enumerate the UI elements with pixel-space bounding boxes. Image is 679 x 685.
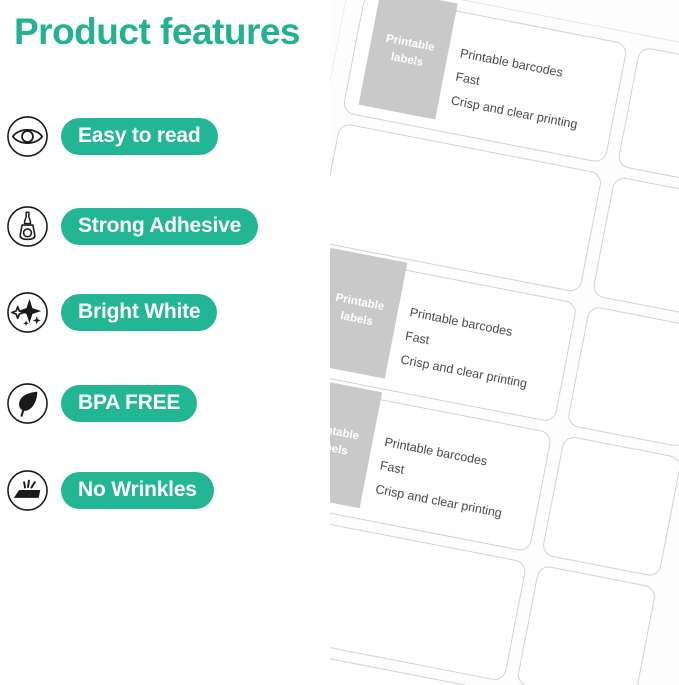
feature-item-no-wrinkles: No Wrinkles [6, 468, 214, 512]
feature-item-easy-to-read: Easy to read [6, 114, 218, 158]
label-cell-blank [566, 305, 679, 448]
label-tag-box: Printable labels [359, 0, 458, 119]
label-tag-text: Printable labels [367, 28, 450, 76]
feature-badge-easy-to-read[interactable]: Easy to read [61, 118, 218, 155]
leaf-icon [6, 382, 49, 425]
label-text-block: Printable barcodes Fast Crisp and clear … [449, 42, 620, 142]
feature-item-strong-adhesive: Strong Adhesive [6, 204, 258, 248]
feature-badge-bright-white[interactable]: Bright White [61, 294, 217, 331]
label-sheet-photo: Printable labels Printable barcodes Fast… [330, 0, 679, 685]
page-title: Product features [14, 12, 300, 53]
feature-badge-bpa-free[interactable]: BPA FREE [61, 385, 197, 422]
glue-bottle-icon [6, 205, 49, 248]
product-features-panel: Product features Easy to read Strong Adh… [0, 0, 360, 685]
label-grid: Printable labels Printable barcodes Fast… [330, 0, 679, 685]
label-cell-blank [617, 46, 679, 189]
label-sheet-paper: Printable labels Printable barcodes Fast… [330, 0, 679, 685]
label-text-block: Printable barcodes Fast Crisp and clear … [398, 301, 569, 401]
label-text-block: Printable barcodes Fast Crisp and clear … [373, 431, 544, 531]
feature-badge-no-wrinkles[interactable]: No Wrinkles [61, 472, 214, 509]
sparkles-icon [6, 291, 49, 334]
flat-sheet-icon [6, 469, 49, 512]
label-cell-blank [516, 564, 657, 685]
feature-item-bright-white: Bright White [6, 290, 217, 334]
label-cell-blank [591, 176, 679, 319]
eye-icon [6, 115, 49, 158]
feature-badge-strong-adhesive[interactable]: Strong Adhesive [61, 208, 258, 245]
feature-item-bpa-free: BPA FREE [6, 381, 197, 425]
label-cell-blank [541, 435, 679, 578]
